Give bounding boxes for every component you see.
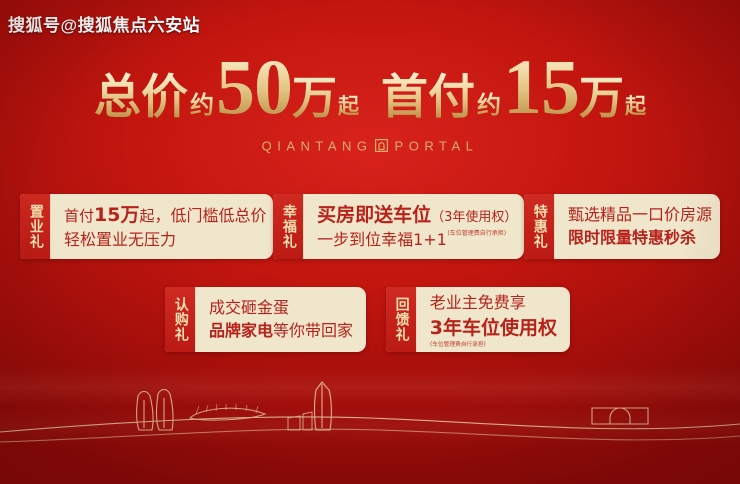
offer-seg-highlight: 15万 <box>94 204 139 226</box>
headline-part1-approx: 约 <box>188 90 216 119</box>
offer-badge-tab: 幸福礼 <box>273 194 304 259</box>
offer-row-top: 置业礼 首付15万起，低门槛低总价 轻松置业无压力 幸福礼 买房即送车位（3年使… <box>20 194 720 259</box>
offer-seg: 首付 <box>64 207 94 225</box>
offer-line-1: 甄选精品一口价房源 <box>568 204 712 227</box>
offer-badge-tab: 置业礼 <box>20 194 51 259</box>
headline-part2-number: 15 <box>503 43 579 130</box>
offer-seg: 起 <box>139 207 154 225</box>
offer-badge-tehuili[interactable]: 特惠礼 甄选精品一口价房源 限时限量特惠秒杀 <box>524 194 720 259</box>
offer-seg: 等你带回家 <box>273 321 353 340</box>
offer-seg-paren: （3年使用权） <box>431 210 517 225</box>
offer-seg: 一步到位幸福1+1 <box>317 230 447 249</box>
headline-part1-number: 50 <box>216 43 292 130</box>
headline-part2-approx: 约 <box>475 90 503 119</box>
offer-seg-highlight: 品牌家电 <box>209 321 273 340</box>
gate-icon <box>375 139 388 152</box>
brand-subtitle: QIANTANGPORTAL <box>0 137 740 155</box>
offer-badge-body: 成交砸金蛋 品牌家电等你带回家 <box>196 287 366 352</box>
offer-seg: 甄选精品一口价房源 <box>568 205 712 224</box>
watermark-text: 搜狐号@搜狐焦点六安站 <box>8 11 200 36</box>
offer-badge-zhiyeli[interactable]: 置业礼 首付15万起，低门槛低总价 轻松置业无压力 <box>20 194 273 259</box>
offer-badge-tab: 回馈礼 <box>386 287 417 352</box>
offer-line-2: 轻松置业无压力 <box>64 229 267 252</box>
offer-badge-body: 首付15万起，低门槛低总价 轻松置业无压力 <box>51 194 273 259</box>
offer-seg: 老业主免费享 <box>430 293 526 312</box>
offer-tab-label: 幸福礼 <box>280 204 296 249</box>
offer-seg: ，低门槛低总价 <box>154 206 266 225</box>
offer-line-1: 成交砸金蛋 <box>209 297 353 320</box>
offer-tab-label: 置业礼 <box>27 204 43 249</box>
offer-tab-label: 特惠礼 <box>531 204 547 249</box>
offer-badge-rengouli[interactable]: 认购礼 成交砸金蛋 品牌家电等你带回家 <box>165 287 366 352</box>
offer-fineprint: (车位管理费自行承担) <box>430 342 551 348</box>
offer-seg-highlight: 买房即送车位 <box>317 204 431 226</box>
offer-badge-body: 甄选精品一口价房源 限时限量特惠秒杀 <box>555 194 720 259</box>
headline-part2-prefix: 首付 <box>381 70 475 125</box>
offer-badge-huikuili[interactable]: 回馈礼 老业主免费享 3年车位使用权 (车位管理费自行承担) <box>386 287 570 352</box>
headline-part1-unit: 万 <box>292 71 337 124</box>
offer-badge-tab: 认购礼 <box>165 287 196 352</box>
offer-row-bottom: 认购礼 成交砸金蛋 品牌家电等你带回家 回馈礼 老业主免费享 3年车位使用权 (… <box>165 287 570 352</box>
offer-seg: 轻松置业无压力 <box>64 230 176 249</box>
offer-badge-tab: 特惠礼 <box>524 194 555 259</box>
offer-badge-body: 老业主免费享 3年车位使用权 (车位管理费自行承担) <box>417 287 570 352</box>
skyline-illustration <box>0 374 740 484</box>
page-title: 总价约50万起首付约15万起 <box>0 48 740 126</box>
headline-part1-suffix: 起 <box>337 93 359 118</box>
offer-line-2: 3年车位使用权 <box>430 315 557 342</box>
offer-seg-highlight: 3年车位使用权 <box>430 317 557 339</box>
offer-line-2: 限时限量特惠秒杀 <box>568 227 712 250</box>
offer-seg-highlight: 限时限量特惠秒杀 <box>568 228 696 247</box>
offer-tab-label: 回馈礼 <box>393 297 409 342</box>
offer-line-1: 老业主免费享 <box>430 292 557 315</box>
offer-fineprint: (车位管理费自行承担) <box>447 230 506 239</box>
offer-line-1: 买房即送车位（3年使用权）(车位管理费自行承担) <box>317 202 517 229</box>
offer-badge-xingfuli[interactable]: 幸福礼 买房即送车位（3年使用权）(车位管理费自行承担) 一步到位幸福1+1 <box>273 194 524 259</box>
offer-line-2: 品牌家电等你带回家 <box>209 320 353 343</box>
brand-name-left: QIANTANG <box>262 138 373 153</box>
headline-part2-unit: 万 <box>579 71 624 124</box>
offer-line-1: 首付15万起，低门槛低总价 <box>64 202 267 229</box>
promo-banner: 搜狐号@搜狐焦点六安站 总价约50万起首付约15万起 QIANTANGPORTA… <box>0 0 740 484</box>
brand-name-right: PORTAL <box>395 138 479 153</box>
headline-part1-prefix: 总价 <box>94 70 188 125</box>
offer-tab-label: 认购礼 <box>172 297 188 342</box>
offer-seg: 成交砸金蛋 <box>209 298 289 317</box>
offer-badge-body: 买房即送车位（3年使用权）(车位管理费自行承担) 一步到位幸福1+1 <box>304 194 524 259</box>
headline-part2-suffix: 起 <box>624 93 646 118</box>
